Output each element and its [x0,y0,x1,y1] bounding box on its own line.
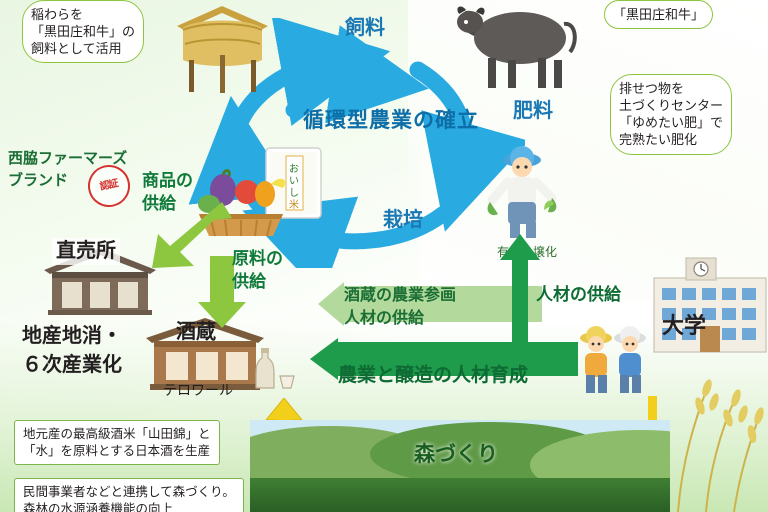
callout-forest-partner: 民間事業者などと連携して森づくり。 森林の水源涵養機能の向上 [14,478,244,512]
hay-stack-icon [165,0,280,95]
callout-straw: 稲わらを 「黒田庄和牛」の 飼料として活用 [22,0,144,63]
label-training: 農業と醸造の人材育成 [338,364,528,388]
callout-beef-brand: 「黒田庄和牛」 [604,0,713,29]
label-farm-stand: 直売所 [52,238,120,265]
label-cultivation: 栽培 [383,208,423,233]
diagram-canvas: 循環型農業の確立 飼料 肥料 栽培 お い し 米 [0,0,768,512]
label-terroir: テロワール [163,382,233,400]
label-human-resource-supply: 人材の供給 [536,284,621,305]
label-fertilizer: 肥料 [513,99,553,124]
label-local-production: 地産地消・ ６次産業化 [22,322,122,380]
label-feed: 飼料 [345,16,385,41]
label-forest-building: 森づくり [414,442,498,468]
label-university: 大学 [662,312,706,340]
sake-bottle-icon [248,346,296,392]
rice-ear-icon [648,362,768,512]
label-brewery-participation: 酒蔵の農業参画 人材の供給 [344,284,456,330]
callout-sake-rice: 地元産の最高級酒米「山田錦」と 「水」を原料とする日本酒を生産 [14,420,220,465]
cow-icon [450,0,590,90]
label-products-supply: 商品の 供給 [142,170,193,216]
students-icon [572,320,658,396]
school-building-icon [650,252,768,362]
callout-manure: 排せつ物を 土づくりセンター 「ゆめたい肥」で 完熟たい肥化 [610,74,732,155]
label-material-supply: 原料の 供給 [232,248,283,294]
cycle-center-title: 循環型農業の確立 [303,108,479,134]
